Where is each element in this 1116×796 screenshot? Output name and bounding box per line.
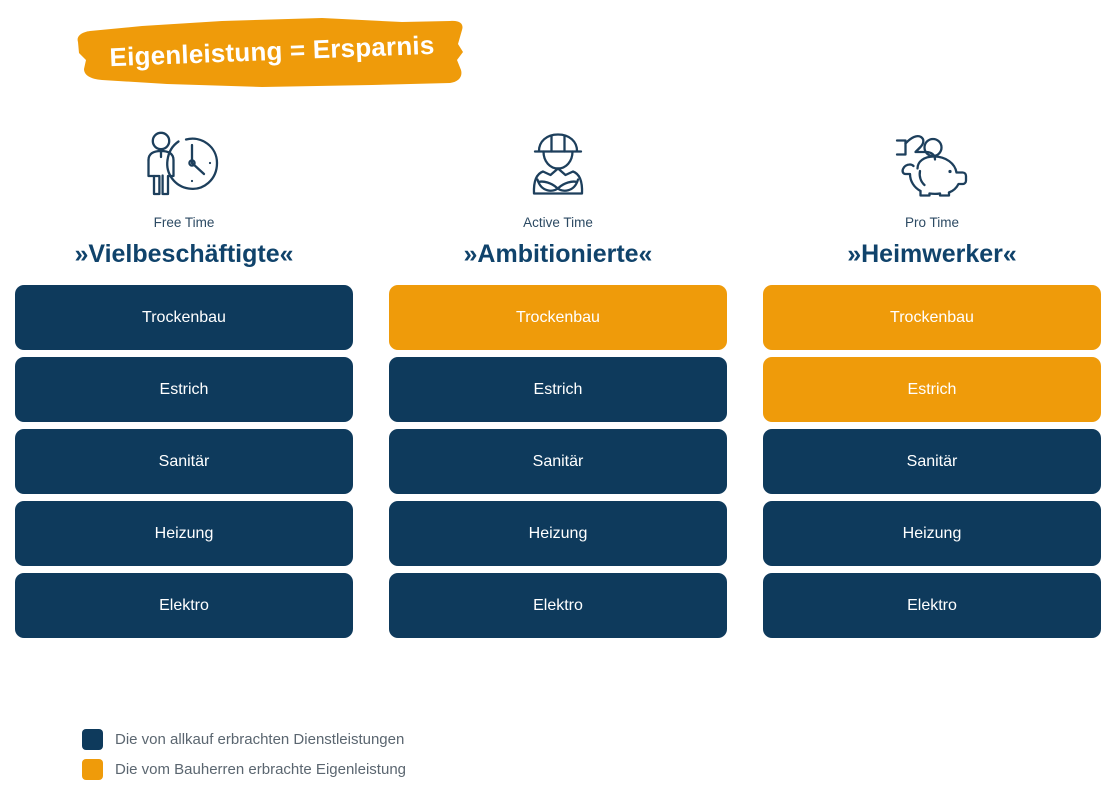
trade-bar[interactable]: Elektro: [763, 573, 1101, 638]
trade-bar[interactable]: Heizung: [15, 501, 353, 566]
trade-bar[interactable]: Sanitär: [389, 429, 727, 494]
persona-columns: Free Time »Vielbeschäftigte« Trockenbau …: [15, 120, 1103, 638]
trade-bar-list: Trockenbau Estrich Sanitär Heizung Elekt…: [389, 285, 727, 638]
trade-bar[interactable]: Heizung: [389, 501, 727, 566]
trade-bar[interactable]: Estrich: [763, 357, 1101, 422]
trade-bar[interactable]: Trockenbau: [15, 285, 353, 350]
trade-bar-list: Trockenbau Estrich Sanitär Heizung Elekt…: [763, 285, 1101, 638]
legend-label: Die vom Bauherren erbrachte Eigenleistun…: [115, 762, 406, 777]
column-eyebrow: Pro Time: [763, 216, 1101, 230]
trade-bar[interactable]: Trockenbau: [389, 285, 727, 350]
piggy-bank-coin-icon: [763, 120, 1101, 208]
legend-label: Die von allkauf erbrachten Dienstleistun…: [115, 732, 404, 747]
persona-column-vielbeschaeftigte: Free Time »Vielbeschäftigte« Trockenbau …: [15, 120, 353, 638]
trade-bar[interactable]: Estrich: [15, 357, 353, 422]
column-title: »Heimwerker«: [763, 240, 1101, 269]
column-eyebrow: Free Time: [15, 216, 353, 230]
trade-bar[interactable]: Trockenbau: [763, 285, 1101, 350]
trade-bar[interactable]: Sanitär: [15, 429, 353, 494]
trade-bar[interactable]: Elektro: [389, 573, 727, 638]
person-with-clock-icon: [15, 120, 353, 208]
trade-bar-list: Trockenbau Estrich Sanitär Heizung Elekt…: [15, 285, 353, 638]
persona-column-heimwerker: Pro Time »Heimwerker« Trockenbau Estrich…: [763, 120, 1101, 638]
trade-bar[interactable]: Elektro: [15, 573, 353, 638]
trade-bar[interactable]: Sanitär: [763, 429, 1101, 494]
persona-column-ambitionierte: Active Time »Ambitionierte« Trockenbau E…: [389, 120, 727, 638]
banner-label: Eigenleistung = Ersparnis: [71, 6, 474, 95]
legend-item-service: Die von allkauf erbrachten Dienstleistun…: [82, 729, 406, 750]
column-title: »Ambitionierte«: [389, 240, 727, 269]
trade-bar[interactable]: Heizung: [763, 501, 1101, 566]
legend-item-diy: Die vom Bauherren erbrachte Eigenleistun…: [82, 759, 406, 780]
column-title: »Vielbeschäftigte«: [15, 240, 353, 269]
trade-bar[interactable]: Estrich: [389, 357, 727, 422]
column-eyebrow: Active Time: [389, 216, 727, 230]
legend-swatch-diy: [82, 759, 103, 780]
legend: Die von allkauf erbrachten Dienstleistun…: [82, 729, 406, 780]
worker-hardhat-crossed-arms-icon: [389, 120, 727, 208]
legend-swatch-service: [82, 729, 103, 750]
banner: Eigenleistung = Ersparnis: [72, 14, 472, 88]
